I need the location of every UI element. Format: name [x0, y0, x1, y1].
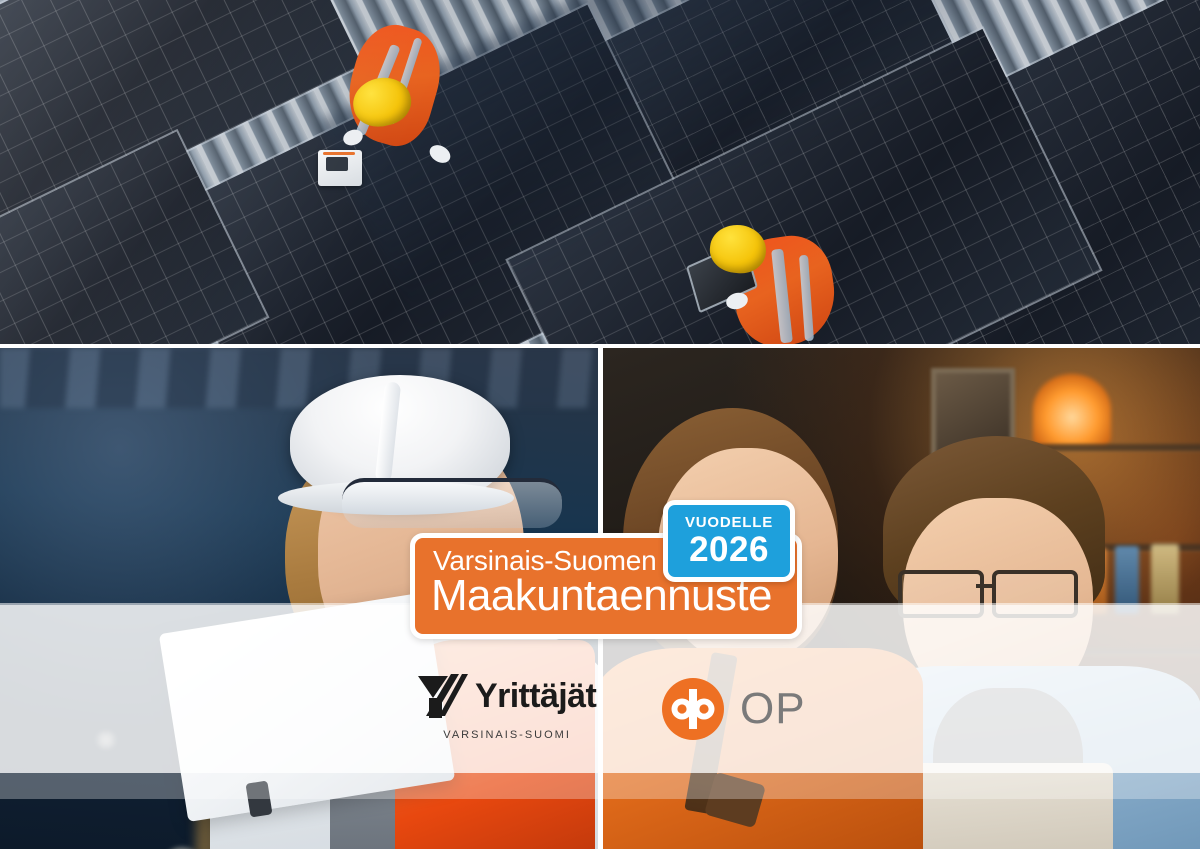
year-badge: VUODELLE 2026 [663, 500, 795, 582]
roof-worker-kneeling [333, 18, 463, 178]
logo-yrittajat: Yrittäjät VARSINAIS-SUOMI [418, 672, 596, 741]
safety-goggles [342, 478, 562, 528]
year-badge-label: VUODELLE [685, 515, 773, 530]
year-badge-value: 2026 [689, 532, 769, 567]
op-circle-mark [662, 678, 724, 740]
roof-worker-with-laptop [690, 215, 840, 344]
yrittajat-y-mark [418, 672, 468, 720]
yrittajat-subtitle: VARSINAIS-SUOMI [443, 729, 571, 741]
logo-op: OP [662, 678, 806, 740]
yrittajat-wordmark: Yrittäjät [475, 679, 596, 713]
work-glove [426, 142, 453, 167]
logo-row: Yrittäjät VARSINAIS-SUOMI OP [0, 660, 1200, 760]
photo-solar-panel-roof-workers [0, 0, 1200, 344]
warm-lamp [1033, 374, 1111, 446]
report-cover: Varsinais-Suomen Maakuntaennuste VUODELL… [0, 0, 1200, 849]
op-wordmark: OP [740, 687, 806, 731]
